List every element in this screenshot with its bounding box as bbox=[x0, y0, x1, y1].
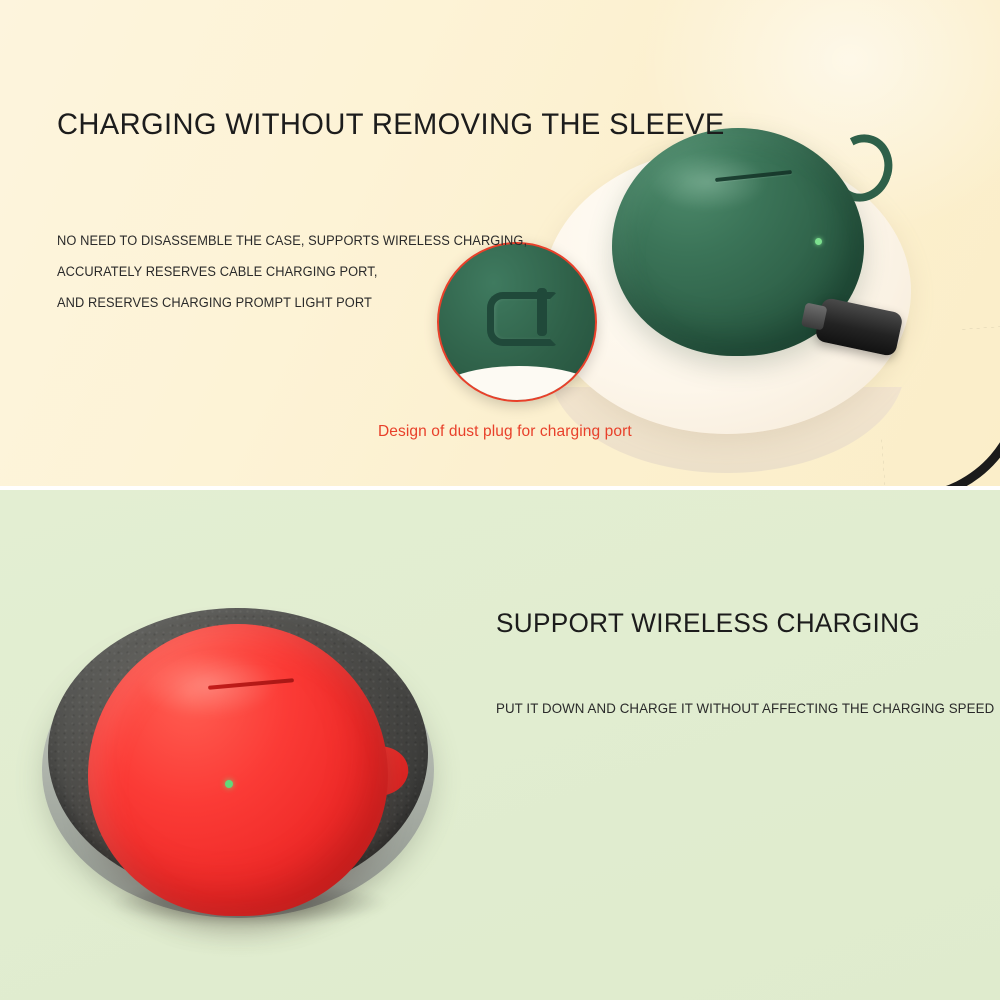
bottom-panel-subheading: PUT IT DOWN AND CHARGE IT WITHOUT AFFECT… bbox=[496, 700, 994, 716]
magnifier-pedestal-fragment bbox=[437, 366, 597, 402]
top-body-line-3: AND RESERVES CHARGING PROMPT LIGHT PORT bbox=[57, 287, 527, 318]
product-infographic: CHARGING WITHOUT REMOVING THE SLEEVE NO … bbox=[0, 0, 1000, 1000]
top-panel-heading: CHARGING WITHOUT REMOVING THE SLEEVE bbox=[57, 108, 725, 142]
dust-plug-tab bbox=[537, 288, 547, 336]
led-indicator-icon bbox=[815, 238, 822, 245]
top-body-line-1: NO NEED TO DISASSEMBLE THE CASE, SUPPORT… bbox=[57, 225, 527, 256]
bottom-panel-heading: SUPPORT WIRELESS CHARGING bbox=[496, 608, 920, 639]
red-case-led-indicator-icon bbox=[225, 780, 233, 788]
top-body-line-2: ACCURATELY RESERVES CABLE CHARGING PORT, bbox=[57, 256, 527, 287]
top-panel-body: NO NEED TO DISASSEMBLE THE CASE, SUPPORT… bbox=[57, 225, 527, 318]
green-case-highlight bbox=[648, 152, 768, 212]
top-panel: CHARGING WITHOUT REMOVING THE SLEEVE NO … bbox=[0, 0, 1000, 488]
red-earbud-case bbox=[88, 624, 408, 924]
dust-plug-caption: Design of dust plug for charging port bbox=[378, 423, 632, 441]
